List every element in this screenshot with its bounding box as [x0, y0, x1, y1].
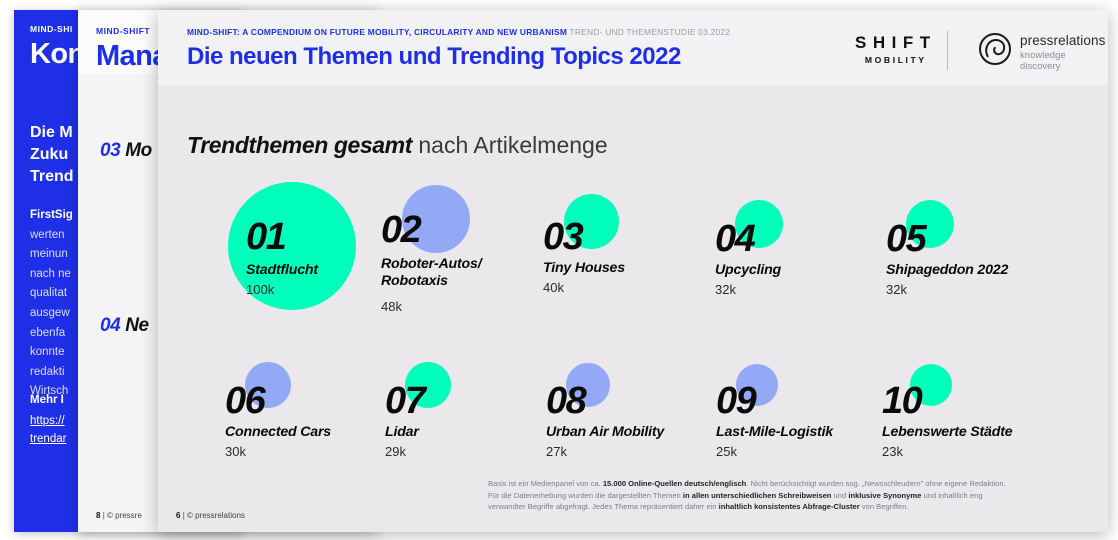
section-04-text: Ne [125, 315, 149, 336]
blue-body-line-3: meinun [30, 245, 73, 265]
trend-label-10: Lebenswerte Städte [882, 424, 1012, 441]
blue-slide-eyebrow: MIND-SHI [30, 24, 73, 34]
white-slide-section-03: 03 Mo [100, 140, 152, 162]
section-04-number: 04 [100, 315, 120, 336]
trend-rank-10: 10 [882, 382, 921, 420]
white-slide-section-04: 04 Ne [100, 315, 149, 337]
white-slide-eyebrow: MIND-SHIFT [96, 26, 150, 36]
footnote-p2a: Für die Datenerhebung wurden die dargest… [488, 491, 683, 500]
trend-value-03: 40k [543, 280, 564, 295]
trend-rank-04: 04 [715, 220, 754, 258]
trend-value-06: 30k [225, 444, 246, 459]
trend-value-01: 100k [246, 282, 274, 297]
footnote-p3b: inhaltlich konsistentes Abfrage-Cluster [719, 502, 860, 511]
trend-value-10: 23k [882, 444, 903, 459]
trend-label-09: Last-Mile-Logistik [716, 424, 833, 441]
footnote: Basis ist ein Medienpanel von ca. 15.000… [488, 478, 1088, 513]
blue-body-line-1: FirstSig [30, 209, 73, 221]
trend-label-06: Connected Cars [225, 424, 331, 441]
footnote-p2d: inklusive Synonyme [848, 491, 921, 500]
trend-label-line2-02: Robotaxis [381, 273, 481, 290]
blue-slide-body: FirstSig werten meinun nach ne qualitat … [30, 206, 73, 402]
footnote-p2e: und inhaltlich eng [921, 491, 982, 500]
blue-body-line-8: konnte [30, 343, 73, 363]
trend-label-03: Tiny Houses [543, 260, 625, 277]
trend-rank-06: 06 [225, 382, 264, 420]
blue-slide-heading: Die M Zuku Trend [30, 122, 74, 188]
footnote-p1c: . Nicht berücksichtigt wurden sog. „News… [746, 479, 1005, 488]
trend-label-05: Shipageddon 2022 [886, 262, 1008, 279]
blue-body-line-7: ebenfa [30, 324, 73, 344]
blue-heading-line-2: Zuku [30, 144, 74, 166]
trend-rank-09: 09 [716, 382, 755, 420]
trend-value-05: 32k [886, 282, 907, 297]
blue-body-line-6: ausgew [30, 304, 73, 324]
trend-label-01: Stadtflucht [246, 262, 318, 279]
trend-value-09: 25k [716, 444, 737, 459]
blue-body-line-2: werten [30, 226, 73, 246]
trend-value-08: 27k [546, 444, 567, 459]
main-slide-footer: 6 | © pressrelations [176, 511, 245, 520]
blue-link-line-1: https:// [30, 412, 66, 430]
white-slide-title: Mana [96, 40, 168, 73]
trend-label-02: Roboter-Autos/Robotaxis [381, 256, 481, 290]
section-03-number: 03 [100, 140, 120, 161]
trend-rank-02: 02 [381, 211, 420, 249]
trend-value-02: 48k [381, 299, 402, 314]
trend-topics-grid: 01Stadtflucht100k02Roboter-Autos/Robotax… [158, 10, 1108, 532]
footnote-p1b: 15.000 Online-Quellen deutsch/englisch [603, 479, 746, 488]
blue-slide-link[interactable]: https:// trendar [30, 412, 66, 448]
white-footer-text: | © pressre [103, 511, 142, 520]
white-slide-footer: 8 | © pressre [96, 511, 142, 520]
trend-rank-05: 05 [886, 220, 925, 258]
blue-body-line-9: redakti [30, 363, 73, 383]
trend-rank-03: 03 [543, 218, 582, 256]
footnote-p2b: in allen unterschiedlichen Schreibweisen [683, 491, 832, 500]
trend-label-04: Upcycling [715, 262, 781, 279]
trend-label-07: Lidar [385, 424, 419, 441]
blue-heading-line-1: Die M [30, 122, 74, 144]
trend-label-08: Urban Air Mobility [546, 424, 664, 441]
blue-slide-more-label: Mehr I [30, 394, 64, 406]
trend-rank-07: 07 [385, 382, 424, 420]
white-footer-page: 8 [96, 511, 100, 520]
blue-heading-line-3: Trend [30, 166, 74, 188]
footnote-p3a: verwandter Begriffe abgefragt. Jedes The… [488, 502, 719, 511]
blue-body-line-5: qualitat [30, 284, 73, 304]
trend-rank-08: 08 [546, 382, 585, 420]
trend-value-04: 32k [715, 282, 736, 297]
presentation-stage: MIND-SHI Kon Die M Zuku Trend FirstSig w… [0, 0, 1118, 540]
trend-value-07: 29k [385, 444, 406, 459]
footnote-p3c: von Begriffen. [860, 502, 909, 511]
main-footer-page: 6 [176, 511, 180, 520]
blue-body-line-4: nach ne [30, 265, 73, 285]
footnote-p2c: und [831, 491, 848, 500]
trend-rank-01: 01 [246, 218, 285, 256]
blue-slide-title: Kon [30, 38, 85, 71]
main-slide[interactable]: MIND-SHIFT: A COMPENDIUM ON FUTURE MOBIL… [158, 10, 1108, 532]
section-03-text: Mo [125, 140, 152, 161]
footnote-p1a: Basis ist ein Medienpanel von ca. [488, 479, 603, 488]
main-footer-text: | © pressrelations [183, 511, 245, 520]
blue-link-line-2: trendar [30, 430, 66, 448]
